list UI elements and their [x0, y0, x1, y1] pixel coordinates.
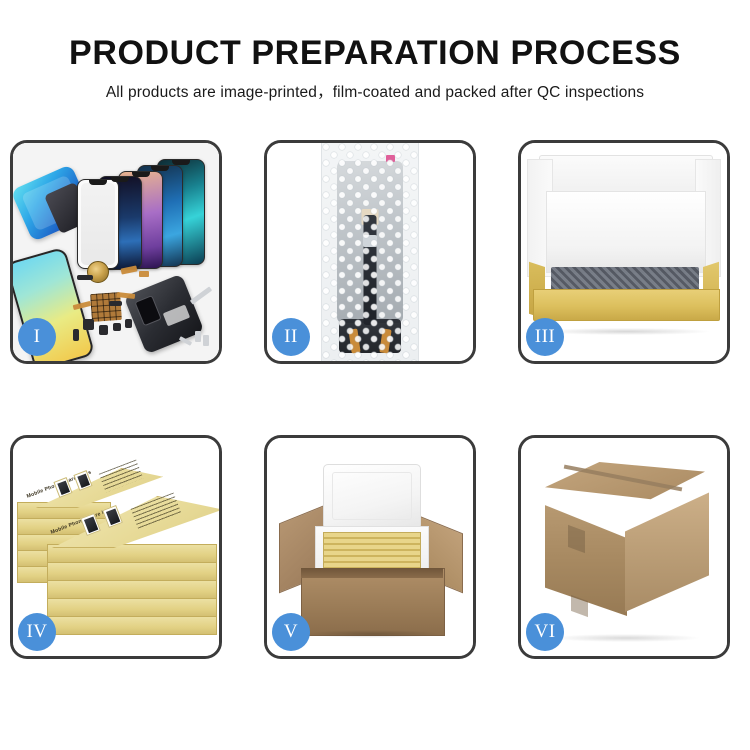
phone-fan-group [71, 157, 216, 269]
drop-shadow [553, 634, 699, 642]
screw-part [203, 335, 209, 346]
retail-box [47, 580, 217, 599]
page-subtitle: All products are image-printed，film-coat… [0, 72, 750, 102]
step-badge-5: V [272, 613, 310, 651]
step-badge-3: III [526, 318, 564, 356]
process-steps-grid: I II [10, 140, 740, 659]
process-step-panel-2[interactable]: II [264, 140, 476, 364]
step-badge-4: IV [18, 613, 56, 651]
kraft-tray-front [533, 289, 720, 321]
process-step-panel-6[interactable]: VI [518, 435, 730, 659]
bubble-texture [322, 143, 418, 361]
process-step-panel-3[interactable]: III [518, 140, 730, 364]
process-step-panel-1[interactable]: I [10, 140, 222, 364]
retail-box [47, 562, 217, 581]
drop-shadow [543, 328, 709, 335]
small-part [77, 275, 93, 280]
foam-box-lid [323, 464, 421, 530]
step-badge-2: II [272, 318, 310, 356]
small-part [73, 329, 79, 341]
screw-part [195, 331, 201, 342]
small-part [109, 301, 122, 306]
page-header: PRODUCT PREPARATION PROCESS All products… [0, 0, 750, 102]
step-badge-1: I [18, 318, 56, 356]
small-part [113, 323, 121, 331]
carton-right-face [625, 490, 709, 612]
process-step-panel-4[interactable]: Mobile Phone Spare Parts Mobile Phone Sp… [10, 435, 222, 659]
notch-icon [132, 172, 150, 177]
brown-carton [301, 568, 445, 636]
white-foam-liner [546, 191, 706, 273]
drop-shadow [307, 630, 439, 638]
notch-icon [89, 180, 107, 185]
carton-left-face [545, 498, 627, 616]
notch-icon [111, 177, 129, 182]
step-badge-6: VI [526, 613, 564, 651]
notch-icon [172, 160, 190, 165]
box-lid-back [539, 155, 713, 196]
page-title: PRODUCT PREPARATION PROCESS [0, 0, 750, 72]
small-part [99, 325, 108, 335]
retail-box [47, 598, 217, 617]
phone-1 [77, 179, 119, 269]
flex-cable-part [139, 271, 149, 277]
carton-inner-edge [301, 568, 443, 578]
notch-icon [151, 166, 169, 171]
process-step-panel-5[interactable]: V [264, 435, 476, 659]
small-part [83, 319, 94, 330]
small-part [125, 319, 132, 328]
bubble-wrap-bag [321, 143, 419, 361]
retail-box [47, 616, 217, 635]
